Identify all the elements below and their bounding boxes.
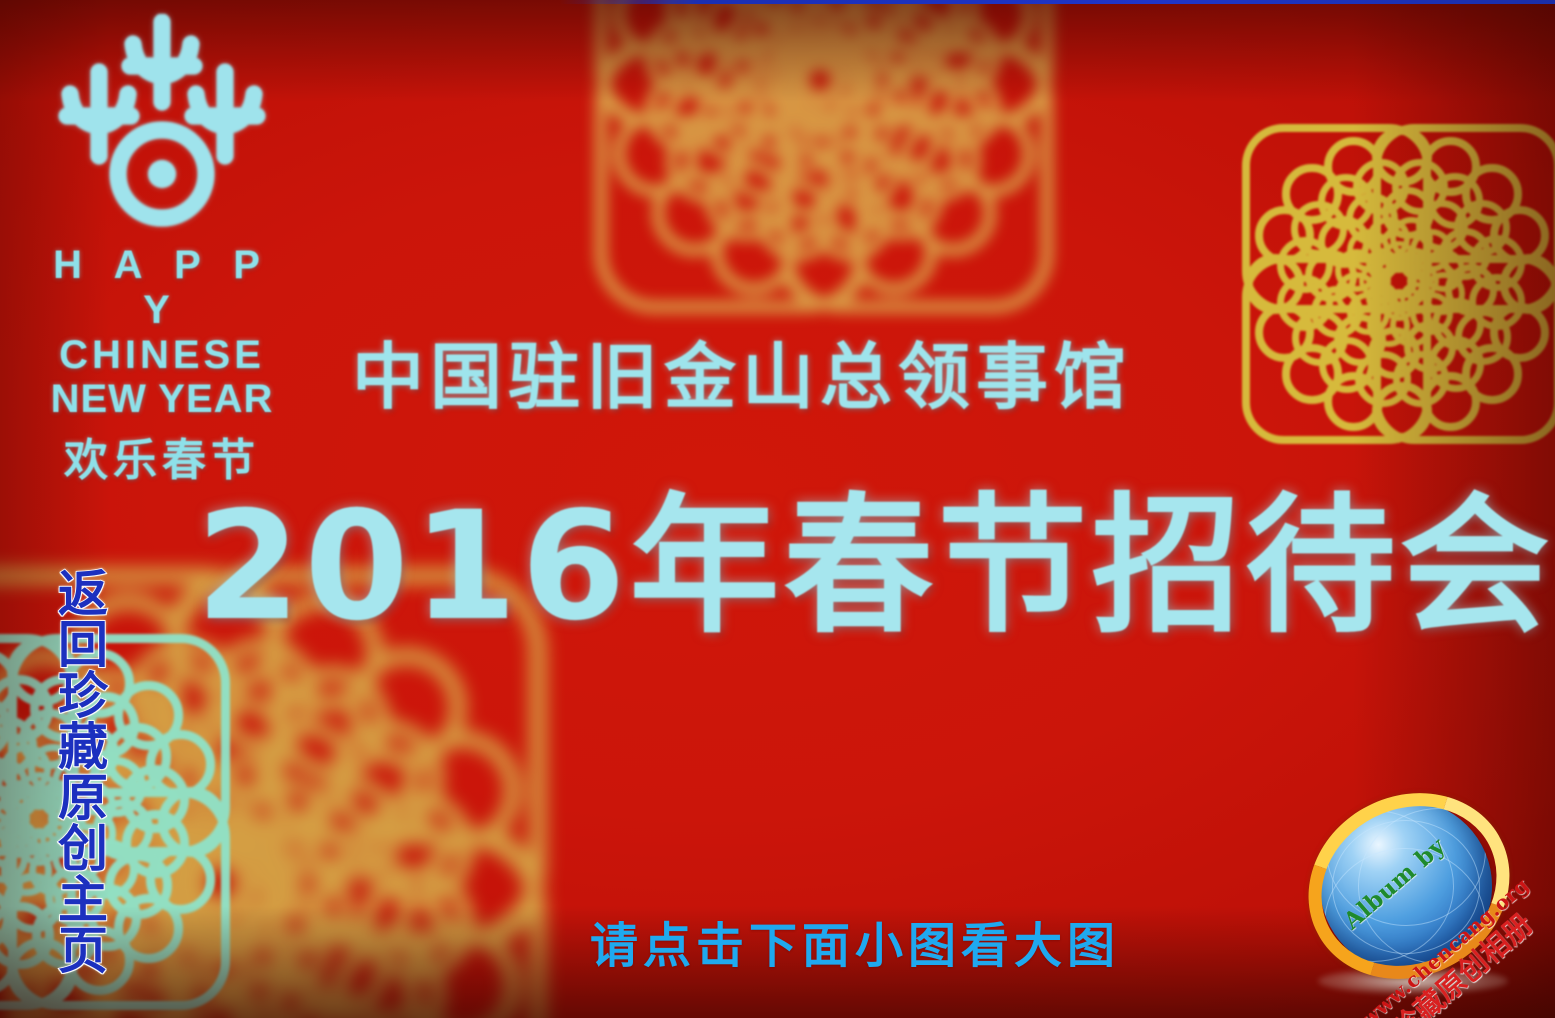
- return-link-char: 主: [52, 874, 114, 925]
- happy-chinese-new-year-logo: H A P P Y CHINESE NEW YEAR 欢乐春节: [28, 14, 296, 488]
- logo-line-newyear: NEW YEAR: [28, 377, 296, 422]
- logo-line-chinese-chars: 欢乐春节: [28, 424, 296, 488]
- organization-name: 中国驻旧金山总领事馆: [352, 318, 1252, 423]
- event-title: 2016年春节招待会: [196, 492, 1446, 642]
- top-edge-blue-strip: [560, 0, 1555, 4]
- sprout-mark-icon: [37, 14, 287, 232]
- return-link-char: 创: [52, 823, 114, 874]
- return-link-char: 返: [52, 568, 114, 619]
- click-thumbnail-prompt: 请点击下面小图看大图: [590, 906, 1120, 976]
- return-link-char: 页: [52, 925, 114, 976]
- return-link-char: 回: [52, 619, 114, 670]
- return-link-char: 原: [52, 772, 114, 823]
- site-watermark[interactable]: Album by www.chencang.org 珍藏原创相册: [1298, 786, 1530, 1000]
- logo-line-chinese: CHINESE: [28, 333, 296, 378]
- return-link-char: 藏: [52, 721, 114, 772]
- return-home-link[interactable]: 返 回 珍 藏 原 创 主 页: [52, 568, 114, 976]
- banner-photo: H A P P Y CHINESE NEW YEAR 欢乐春节 中国驻旧金山总领…: [0, 0, 1555, 1018]
- logo-line-happy: H A P P Y: [28, 243, 296, 333]
- return-link-char: 珍: [52, 670, 114, 721]
